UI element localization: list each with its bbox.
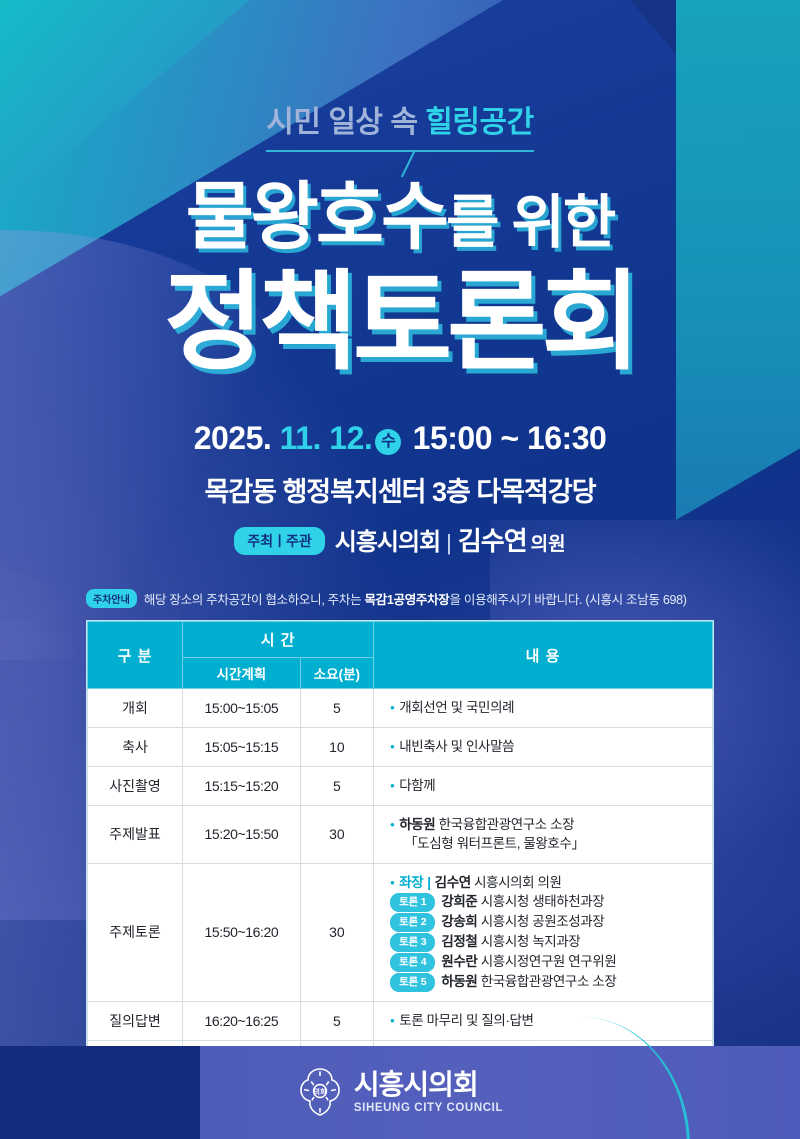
- host-separator: |: [446, 530, 452, 555]
- chair-label: 좌장: [399, 875, 423, 890]
- th-duration: 소요(분): [300, 658, 373, 689]
- event-datetime: 2025. 11. 12.수 15:00 ~ 16:30: [0, 420, 800, 457]
- cell-content: 하동원 한국융합관광연구소 소장「도심형 워터프론트, 물왕호수」: [374, 806, 713, 864]
- content-panelist-line: 토론 5하동원 한국융합관광연구소 소장: [390, 972, 708, 992]
- content-panelist-line: 토론 2강송희 시흥시청 공원조성과장: [390, 912, 708, 932]
- title-main-subject: 물왕호수: [186, 175, 446, 258]
- parking-lot-name: 목감1공영주차장: [364, 593, 449, 607]
- bubble-line: [266, 150, 534, 152]
- title-suffix: 를 위한: [446, 190, 614, 255]
- cell-division: 사진촬영: [88, 767, 183, 806]
- content-bullet-line: 내빈축사 및 인사말씀: [390, 737, 708, 756]
- table-row: 주제발표15:20~15:5030하동원 한국융합관광연구소 소장「도심형 워터…: [88, 806, 713, 864]
- cell-content: 다함께: [374, 767, 713, 806]
- weekday-badge: 수: [375, 429, 401, 455]
- table-row: 개회15:00~15:055개회선언 및 국민의례: [88, 689, 713, 728]
- panelist-badge: 토론 2: [390, 913, 435, 932]
- content-subtitle-line: 「도심형 워터프론트, 물왕호수」: [390, 834, 708, 853]
- svg-text:의회: 의회: [313, 1087, 326, 1096]
- cell-duration: 30: [300, 806, 373, 864]
- chair-name: 김수연: [435, 875, 471, 890]
- cell-duration: 5: [300, 767, 373, 806]
- panelist-badge: 토론 1: [390, 893, 435, 912]
- tagline: 시민 일상 속 힐링공간: [0, 97, 800, 141]
- bubble-tail: [401, 150, 416, 178]
- host-person-name: 김수연: [458, 526, 527, 556]
- event-time: 15:00 ~ 16:30: [413, 420, 607, 456]
- event-venue: 목감동 행정복지센터 3층 다목적강당: [0, 470, 800, 509]
- th-time-plan: 시간계획: [183, 658, 301, 689]
- table-row: 주제토론15:50~16:2030좌장|김수연 시흥시의회 의원토론 1강희준 …: [88, 863, 713, 1001]
- cell-content: 좌장|김수연 시흥시의회 의원토론 1강희준 시흥시청 생태하천과장토론 2강송…: [374, 863, 713, 1001]
- cell-duration: 5: [300, 1001, 373, 1040]
- content-chair-line: 좌장|김수연 시흥시의회 의원: [390, 873, 708, 892]
- footer-logo-english: SIHEUNG CITY COUNCIL: [354, 1102, 503, 1114]
- cell-duration: 5: [300, 689, 373, 728]
- panelist-badge: 토론 4: [390, 953, 435, 972]
- th-content: 내 용: [374, 622, 713, 689]
- event-date: 11. 12.: [280, 420, 373, 456]
- cell-content: 개회선언 및 국민의례: [374, 689, 713, 728]
- cell-time: 15:50~16:20: [183, 863, 301, 1001]
- header-row-top: 구 분 시 간 내 용: [88, 622, 713, 658]
- cell-time: 15:20~15:50: [183, 806, 301, 864]
- cell-time: 15:15~15:20: [183, 767, 301, 806]
- panelist-badge: 토론 3: [390, 933, 435, 952]
- panelist-name: 강희준: [441, 894, 477, 909]
- cell-content: 내빈축사 및 인사말씀: [374, 728, 713, 767]
- panelist-name: 김정철: [441, 934, 477, 949]
- th-time-group: 시 간: [183, 622, 374, 658]
- schedule-table-head: 구 분 시 간 내 용 시간계획 소요(분): [88, 622, 713, 689]
- panelist-name: 강송희: [441, 914, 477, 929]
- panelist-badge: 토론 5: [390, 973, 435, 992]
- table-row: 축사15:05~15:1510내빈축사 및 인사말씀: [88, 728, 713, 767]
- footer-logo-korean: 시흥시의회: [354, 1071, 503, 1099]
- title-line-2: 정책토론회: [0, 268, 800, 376]
- cell-time: 16:20~16:25: [183, 1001, 301, 1040]
- host-label-badge: 주최ㅣ주관: [234, 527, 324, 555]
- cell-division: 주제토론: [88, 863, 183, 1001]
- th-division: 구 분: [88, 622, 183, 689]
- tagline-highlight-text: 힐링공간: [425, 106, 533, 139]
- table-row: 사진촬영15:15~15:205다함께: [88, 767, 713, 806]
- footer-logo: 의회 시흥시의회 SIHEUNG CITY COUNCIL: [0, 1067, 800, 1117]
- host-organization: 시흥시의회: [335, 529, 440, 556]
- cell-division: 질의답변: [88, 1001, 183, 1040]
- cell-duration: 10: [300, 728, 373, 767]
- host-person-title: 의원: [531, 534, 566, 555]
- content-panelist-line: 토론 1강희준 시흥시청 생태하천과장: [390, 892, 708, 912]
- parking-label-badge: 주차안내: [86, 589, 137, 608]
- parking-text-before: 해당 장소의 주차공간이 협소하오니, 주차는: [144, 593, 365, 607]
- content-panelist-line: 토론 3김정철 시흥시청 녹지과장: [390, 932, 708, 952]
- cell-division: 축사: [88, 728, 183, 767]
- cell-division: 개회: [88, 689, 183, 728]
- tagline-dim-text: 시민 일상 속: [266, 106, 417, 139]
- host-line: 주최ㅣ주관시흥시의회|김수연의원: [0, 521, 800, 558]
- cell-time: 15:00~15:05: [183, 689, 301, 728]
- parking-text-after: 을 이용해주시기 바랍니다. (시흥시 조남동 698): [450, 593, 687, 607]
- content-panelist-line: 토론 4원수란 시흥시정연구원 연구위원: [390, 952, 708, 972]
- poster-root: 시민 일상 속 힐링공간 물왕호수를 위한 정책토론회 2025. 11. 12…: [0, 0, 800, 1139]
- city-council-emblem-icon: 의회: [297, 1067, 343, 1117]
- cell-division: 주제발표: [88, 806, 183, 864]
- cell-time: 15:05~15:15: [183, 728, 301, 767]
- cell-duration: 30: [300, 863, 373, 1001]
- content-bullet-line: 다함께: [390, 776, 708, 795]
- title-line-1: 물왕호수를 위한: [0, 180, 800, 254]
- content-bullet-line: 개회선언 및 국민의례: [390, 698, 708, 717]
- parking-notice: 주차안내해당 장소의 주차공간이 협소하오니, 주차는 목감1공영주차장을 이용…: [86, 589, 726, 609]
- panelist-name: 원수란: [441, 954, 477, 969]
- chair-separator: |: [427, 875, 430, 890]
- panelist-name: 하동원: [441, 974, 477, 989]
- footer-logo-text: 시흥시의회 SIHEUNG CITY COUNCIL: [354, 1071, 503, 1114]
- speaker-name: 하동원: [399, 817, 435, 832]
- content-speaker-line: 하동원 한국융합관광연구소 소장: [390, 815, 708, 834]
- event-year: 2025.: [194, 420, 272, 456]
